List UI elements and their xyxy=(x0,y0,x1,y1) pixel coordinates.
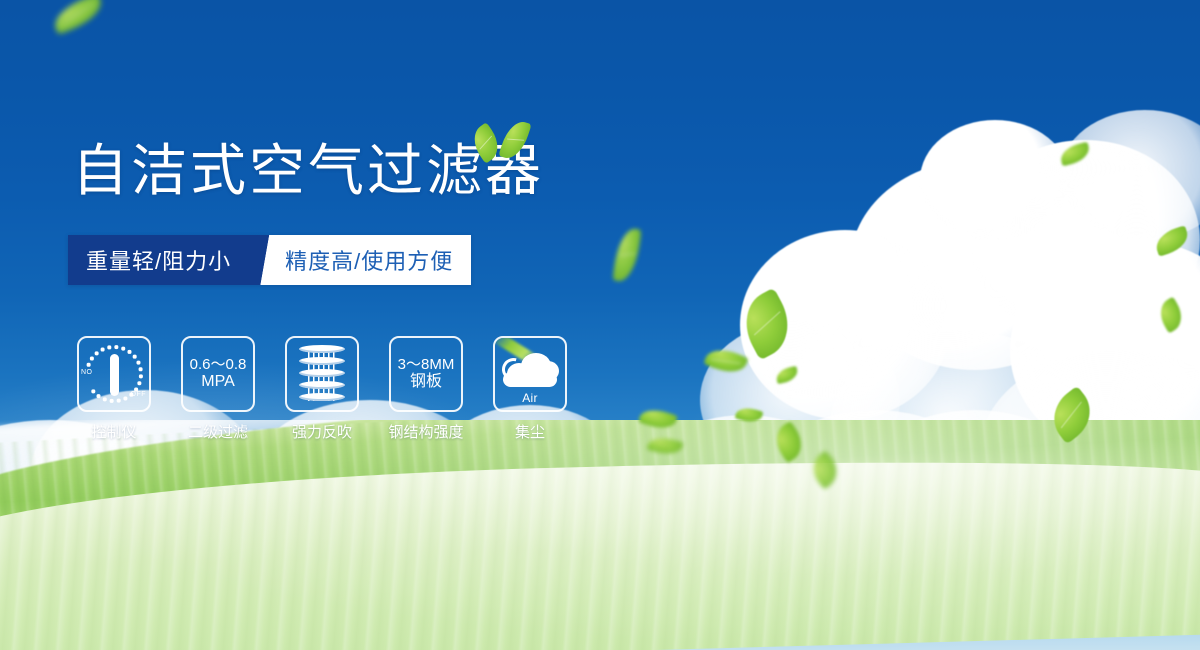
filter-cartridge-icon xyxy=(299,345,345,403)
feature-label: 钢结构强度 xyxy=(388,421,463,442)
feature-icon-box: Air xyxy=(493,336,567,412)
feature-item-control[interactable]: NO OFF 控制仪 xyxy=(76,336,152,442)
feature-label: 控制仪 xyxy=(91,421,136,442)
cartridge-disc xyxy=(299,381,345,389)
leaf-vein xyxy=(1061,401,1082,428)
subtitle-segment-primary: 重量轻/阻力小 xyxy=(68,235,253,285)
feature-item-blowback[interactable]: 强力反吹 xyxy=(284,336,360,442)
leaf-vein xyxy=(507,139,524,141)
air-label: Air xyxy=(499,391,561,405)
leaf-decoration xyxy=(467,122,506,164)
leaf-vein xyxy=(711,358,741,363)
feature-icon-box: NO OFF xyxy=(77,336,151,412)
feature-label: 强力反吹 xyxy=(292,421,352,442)
steel-material: 钢板 xyxy=(398,373,455,392)
feature-item-steel[interactable]: 3〜8MM 钢板 钢结构强度 xyxy=(388,336,464,442)
feature-label: 集尘 xyxy=(515,421,545,442)
feature-item-filtration[interactable]: 0.6〜0.8 MPA 二级过滤 xyxy=(180,336,256,442)
cartridge-disc xyxy=(299,357,345,365)
dial-icon: NO OFF xyxy=(83,343,145,405)
cartridge-disc xyxy=(299,393,345,401)
feature-label: 二级过滤 xyxy=(188,421,248,442)
dial-needle xyxy=(110,354,119,396)
subtitle-bar: 重量轻/阻力小 精度高/使用方便 xyxy=(68,235,471,285)
leaf-vein xyxy=(479,136,492,150)
pressure-unit: MPA xyxy=(190,373,247,392)
feature-list: NO OFF 控制仪 0.6〜0.8 MPA 二级过滤 xyxy=(76,336,568,442)
steel-plate-text-icon: 3〜8MM 钢板 xyxy=(398,356,455,393)
steel-thickness: 3〜8MM xyxy=(398,356,455,374)
pressure-value: 0.6〜0.8 xyxy=(190,356,247,374)
feature-icon-box xyxy=(285,336,359,412)
cartridge-disc xyxy=(299,345,345,353)
cloud-puff xyxy=(920,120,1070,240)
product-banner: 自洁式空气过滤器 重量轻/阻力小 精度高/使用方便 xyxy=(0,0,1200,650)
feature-icon-box: 0.6〜0.8 MPA xyxy=(181,336,255,412)
grass-field xyxy=(0,420,1200,650)
dial-label-off: OFF xyxy=(131,391,147,398)
headline-sprout-icon xyxy=(470,112,540,164)
leaf-decoration xyxy=(498,118,531,163)
feature-icon-box: 3〜8MM 钢板 xyxy=(389,336,463,412)
feature-item-dust[interactable]: Air 集尘 xyxy=(492,336,568,442)
dial-label-on: NO xyxy=(81,369,93,376)
grass-highlight xyxy=(0,420,1200,650)
pressure-text-icon: 0.6〜0.8 MPA xyxy=(190,356,247,393)
subtitle-divider xyxy=(253,235,279,285)
leaf-vein xyxy=(753,311,780,335)
subtitle-segment-secondary: 精度高/使用方便 xyxy=(279,235,471,285)
leaf-vein xyxy=(619,253,636,256)
cartridge-disc xyxy=(299,369,345,377)
air-cloud-icon: Air xyxy=(499,345,561,403)
